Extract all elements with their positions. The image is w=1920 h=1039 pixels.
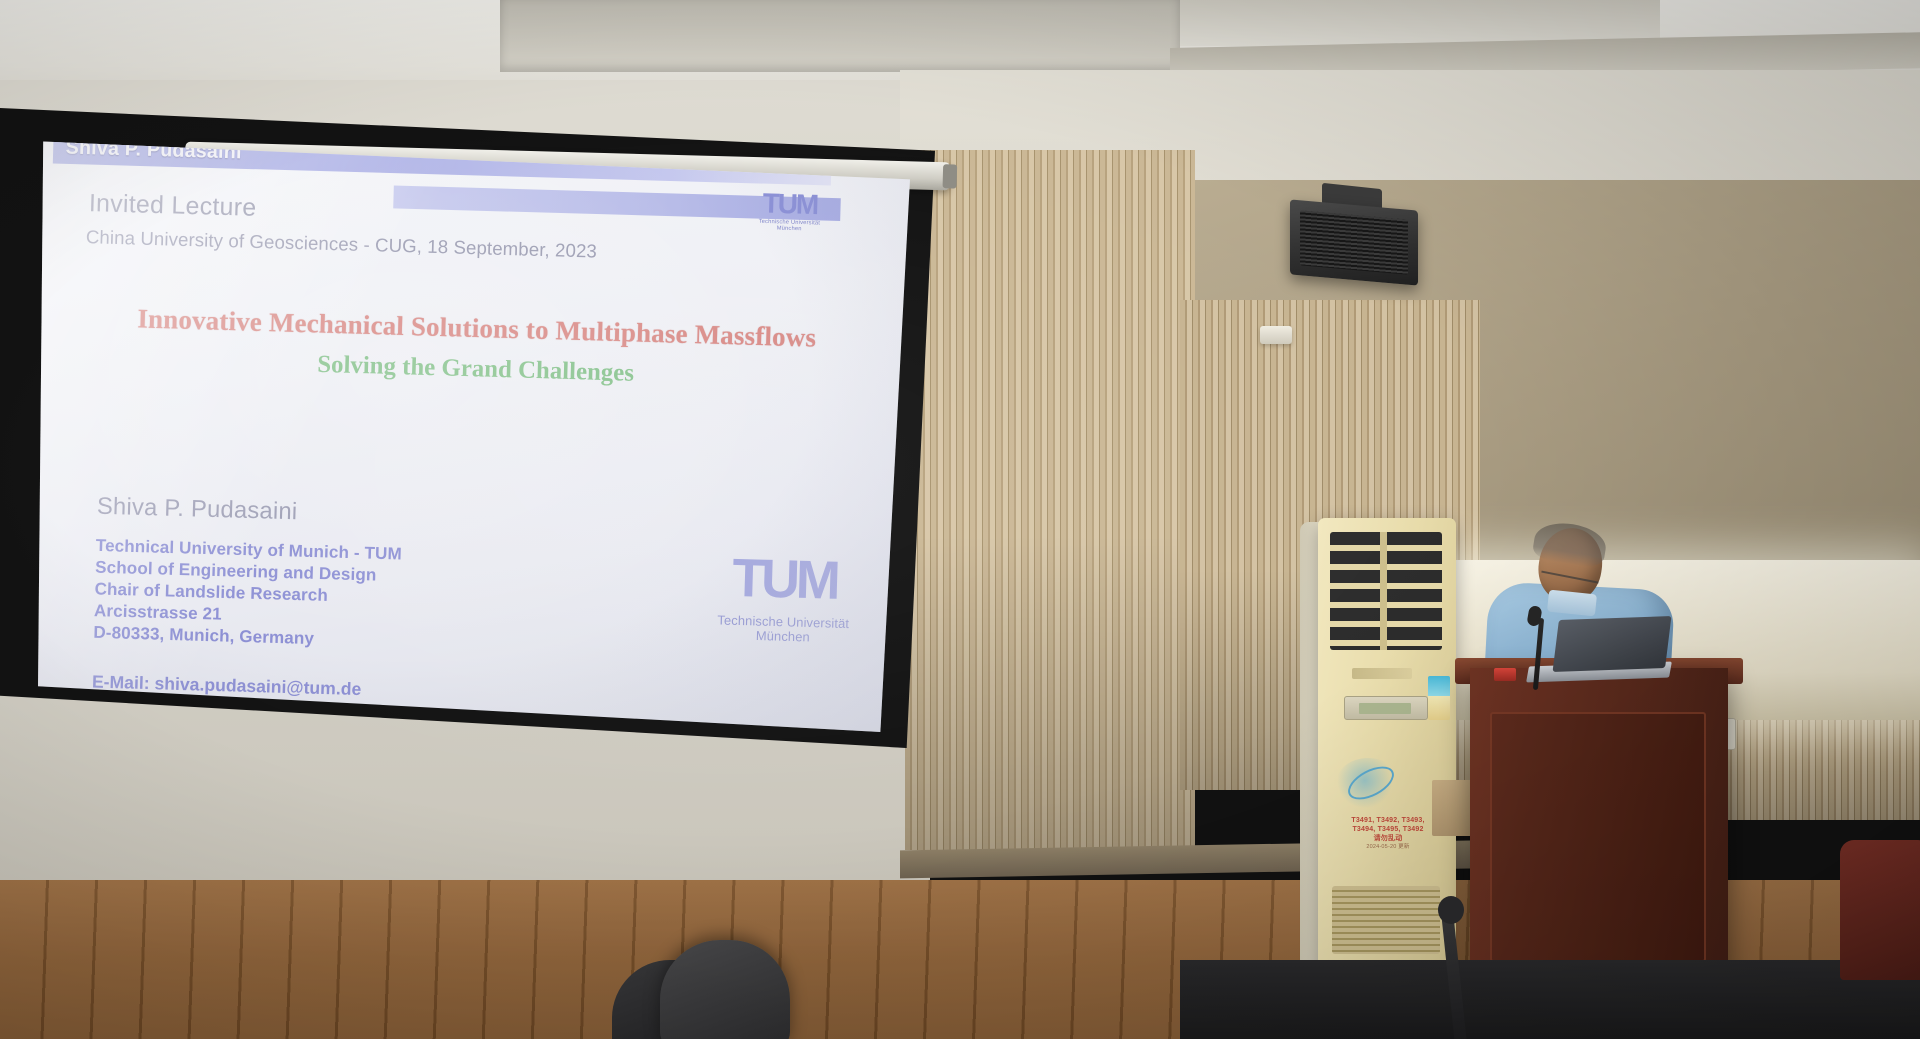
podium-front-panel (1490, 712, 1706, 962)
ac-warning-line-1: T3491, T3492, T3493, (1340, 816, 1436, 825)
slide-affiliation-block: Technical University of Munich - TUM Sch… (93, 535, 402, 652)
ac-brand-badge (1352, 668, 1412, 679)
tum-logo-small: TUM Technische Universität München (749, 189, 831, 233)
wood-slat-panel-left (905, 150, 1195, 850)
lecture-hall-scene: Shiva P. Pudasaini TUM Technische Univer… (0, 0, 1920, 1039)
ac-warning-line-2: T3494, T3495, T3492 (1340, 825, 1436, 834)
air-conditioner-unit: T3491, T3492, T3493, T3494, T3495, T3492… (1318, 518, 1456, 978)
foreground-chair (660, 940, 790, 1039)
roller-end-cap (943, 164, 958, 188)
lecture-venue-line: China University of Geosciences - CUG, 1… (86, 227, 598, 263)
right-chair (1840, 840, 1920, 980)
wall-sensor-icon (1260, 326, 1292, 344)
ac-warning-line-3: 请勿乱动 (1340, 834, 1436, 843)
ac-vent-divider (1380, 532, 1387, 650)
foreground-table (1180, 960, 1920, 1039)
presentation-slide: Shiva P. Pudasaini TUM Technische Univer… (38, 122, 910, 732)
tum-logo-mark-small: TUM (749, 189, 830, 219)
tum-logo-subtitle-small: Technische Universität München (749, 218, 830, 233)
tum-logo-mark-large: TUM (701, 550, 868, 608)
ac-logo-icon (1336, 758, 1400, 808)
ac-logo-ring (1343, 760, 1399, 806)
slide-logo-bar: TUM Technische Universität München (393, 186, 841, 221)
ac-energy-label-icon (1428, 676, 1450, 720)
loudspeaker-icon (1290, 199, 1418, 285)
ac-warning-label: T3491, T3492, T3493, T3494, T3495, T3492… (1340, 816, 1436, 852)
laptop-screen[interactable] (1553, 616, 1672, 672)
ac-warning-footer: 2024-05-20 更新 (1340, 843, 1436, 852)
ceiling-recess-panel (500, 0, 1180, 72)
ac-bottom-grille (1332, 886, 1440, 954)
ac-control-panel[interactable] (1344, 696, 1428, 720)
microphone-base-indicator (1494, 668, 1516, 681)
lecture-type-heading: Invited Lecture (89, 189, 257, 223)
podium (1470, 668, 1728, 998)
tum-logo-large: TUM Technische Universität München (700, 550, 868, 646)
tum-logo-subtitle-large: Technische Universität München (700, 613, 866, 647)
speaker-grille (1300, 210, 1408, 274)
foreground-microphone-icon (1438, 896, 1464, 924)
slide-author-name: Shiva P. Pudasaini (97, 492, 298, 526)
ac-display-screen (1359, 703, 1411, 714)
projection-screen: Shiva P. Pudasaini TUM Technische Univer… (38, 122, 910, 732)
